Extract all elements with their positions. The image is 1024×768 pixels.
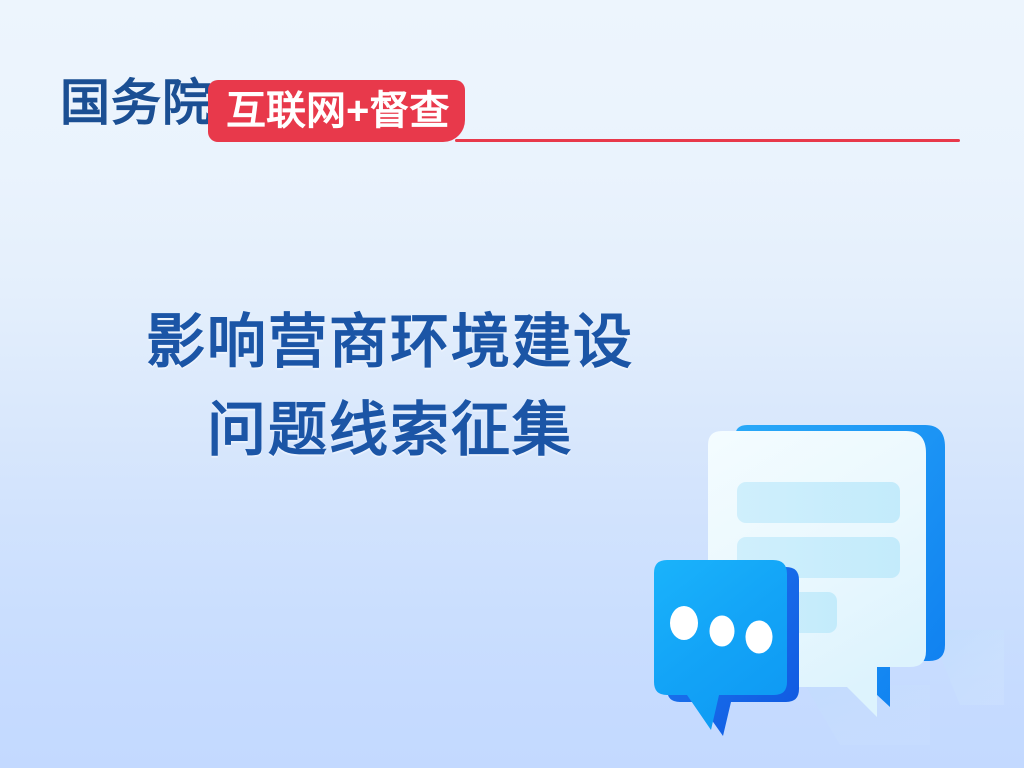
typing-dot-3: [746, 621, 773, 654]
typing-dot-2: [710, 616, 735, 647]
front-chat-bubble: [654, 560, 799, 736]
promo-banner: 国务院 互联网+督查 影响营商环境建设 问题线索征集: [0, 0, 1024, 768]
organization-name: 国务院: [60, 72, 213, 134]
typing-dot-1: [670, 606, 698, 640]
header-divider-line: [455, 139, 960, 142]
program-badge: 互联网+督查: [208, 80, 465, 142]
program-badge-label: 互联网+督查: [226, 89, 449, 133]
page-title: 影响营商环境建设 问题线索征集: [110, 298, 670, 474]
banner-header: 国务院 互联网+督查: [0, 72, 1024, 152]
back-bubble-content-bar-1: [737, 482, 900, 523]
page-title-line-2: 问题线索征集: [110, 386, 670, 474]
chat-bubbles-illustration: [600, 385, 1024, 768]
page-title-line-1: 影响营商环境建设: [110, 298, 670, 386]
